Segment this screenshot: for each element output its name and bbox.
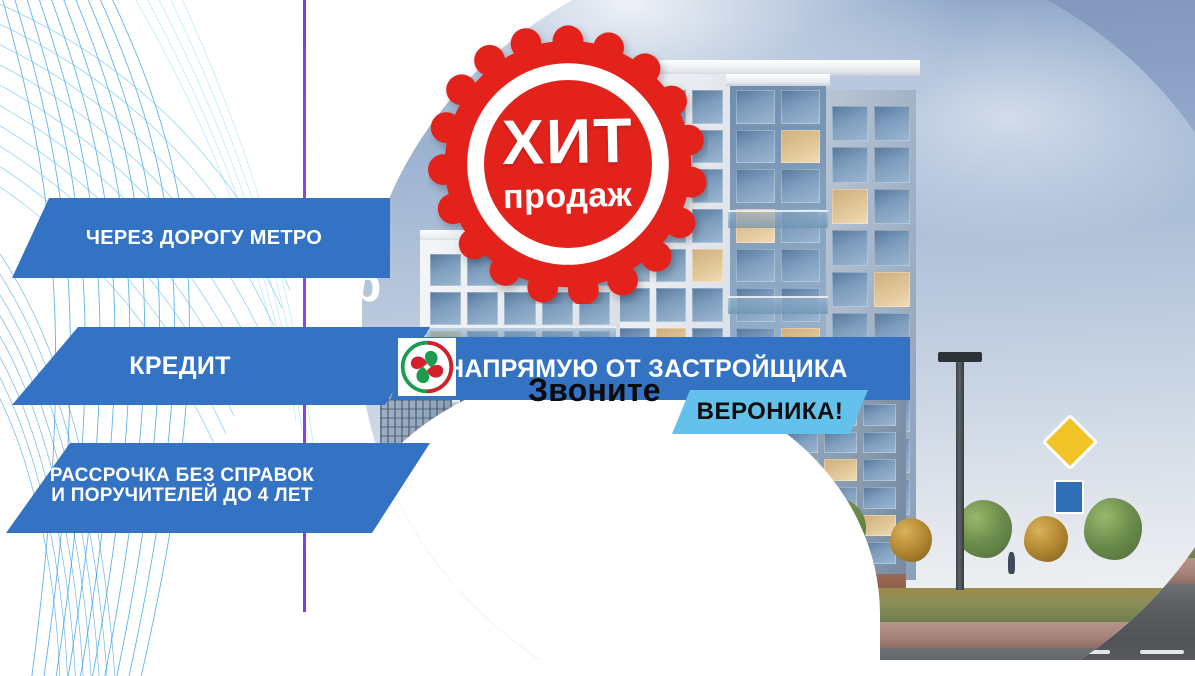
feature-ribbon-installment[interactable]: РАССРОЧКА БЕЗ СПРАВОК И ПОРУЧИТЕЛЕЙ ДО 4… <box>0 443 430 533</box>
call-label: Звоните <box>528 372 661 409</box>
street-light-pole <box>956 360 964 590</box>
ribbon-metro-label: ЧЕРЕЗ ДОРОГУ МЕТРО <box>86 228 322 249</box>
pedestrian-crossing-sign-icon <box>1054 480 1084 514</box>
developer-logo <box>398 338 456 396</box>
pedestrian <box>1008 552 1015 574</box>
ribbon-installment-line1: РАССРОЧКА БЕЗ СПРАВОК <box>50 466 314 486</box>
street-light-head <box>938 352 982 362</box>
clover-hearts-icon <box>400 340 454 394</box>
starburst-seal-icon <box>428 24 708 304</box>
advertisement-banner: b ЧЕРЕЗ ДОРОГУ МЕТРО КРЕДИТ РАССРОЧКА БЕ… <box>0 0 1195 676</box>
ribbon-credit-label: КРЕДИТ <box>129 353 230 379</box>
contact-name-ribbon[interactable]: ВЕРОНИКА! <box>672 390 868 434</box>
feature-ribbon-metro[interactable]: ЧЕРЕЗ ДОРОГУ МЕТРО <box>0 198 390 278</box>
ribbon-installment-line2: И ПОРУЧИТЕЛЕЙ ДО 4 ЛЕТ <box>50 486 314 506</box>
contact-name-label: ВЕРОНИКА! <box>697 400 844 425</box>
hit-sales-badge: ХИТ продаж <box>428 24 708 304</box>
